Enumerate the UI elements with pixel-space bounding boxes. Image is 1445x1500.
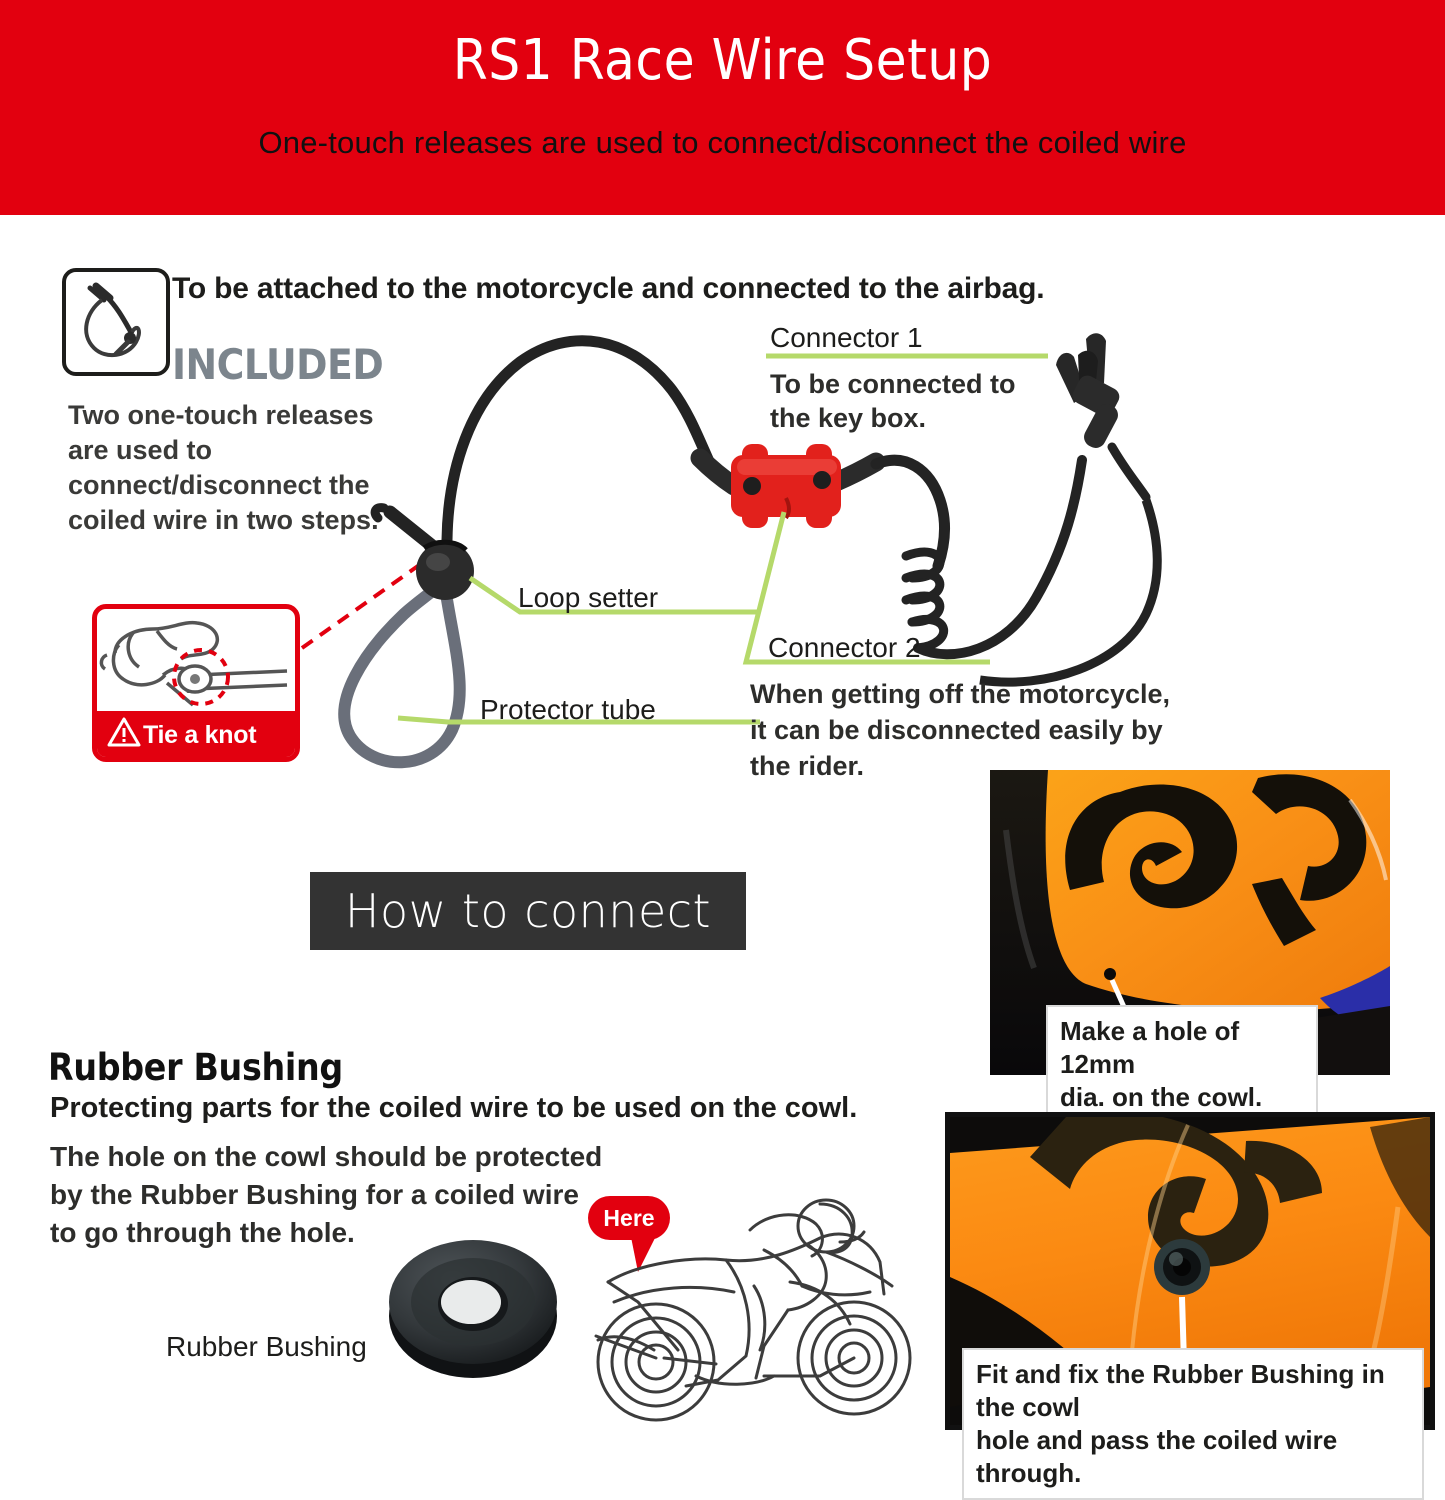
how-to-connect-label: How to connect	[310, 872, 746, 950]
callout-body-connector-1-l1: To be connected to	[770, 366, 1016, 402]
callout-title-loop-setter: Loop setter	[518, 582, 658, 614]
callout-body-connector-2-l1: When getting off the motorcycle,	[750, 676, 1170, 712]
connector-1-buckle	[1056, 333, 1146, 497]
rubber-bushing-title: Rubber Bushing	[48, 1046, 343, 1089]
callout-title-connector-1: Connector 1	[770, 322, 923, 354]
callout-body-connector-2-l2: it can be disconnected easily by	[750, 712, 1163, 748]
photo-bushing-fitted-caption: Fit and fix the Rubber Bushing in the co…	[962, 1348, 1424, 1500]
infographic-page: RS1 Race Wire Setup One-touch releases a…	[0, 0, 1445, 1445]
how-to-connect-banner: How to connect	[310, 872, 746, 950]
photo-cowl-hole-caption: Make a hole of 12mm dia. on the cowl.	[1046, 1005, 1318, 1124]
photo-cowl-hole-caption-l1: Make a hole of 12mm	[1060, 1015, 1304, 1081]
motorcycle-rider-icon	[568, 1190, 928, 1440]
photo-bushing-fitted-caption-l2: hole and pass the coiled wire through.	[976, 1424, 1410, 1490]
callout-title-connector-2: Connector 2	[768, 632, 921, 664]
photo-bushing-fitted-caption-l1: Fit and fix the Rubber Bushing in the co…	[976, 1358, 1410, 1424]
callout-body-connector-2-l3: the rider.	[750, 748, 864, 784]
rubber-bushing-body-l2: by the Rubber Bushing for a coiled wire	[50, 1176, 610, 1214]
race-wire-illustration	[0, 0, 1445, 840]
rubber-bushing-part-caption: Rubber Bushing	[166, 1331, 367, 1363]
rubber-bushing-lead: Protecting parts for the coiled wire to …	[50, 1092, 857, 1125]
leader-lines	[398, 356, 1048, 722]
rubber-grommet-icon	[378, 1218, 568, 1388]
rubber-bushing-body-l1: The hole on the cowl should be protected	[50, 1138, 610, 1176]
red-connector-body	[731, 444, 841, 528]
callout-body-connector-1-l2: the key box.	[770, 400, 926, 436]
callout-title-protector-tube: Protector tube	[480, 694, 656, 726]
photo-cowl-hole-caption-l2: dia. on the cowl.	[1060, 1081, 1304, 1114]
